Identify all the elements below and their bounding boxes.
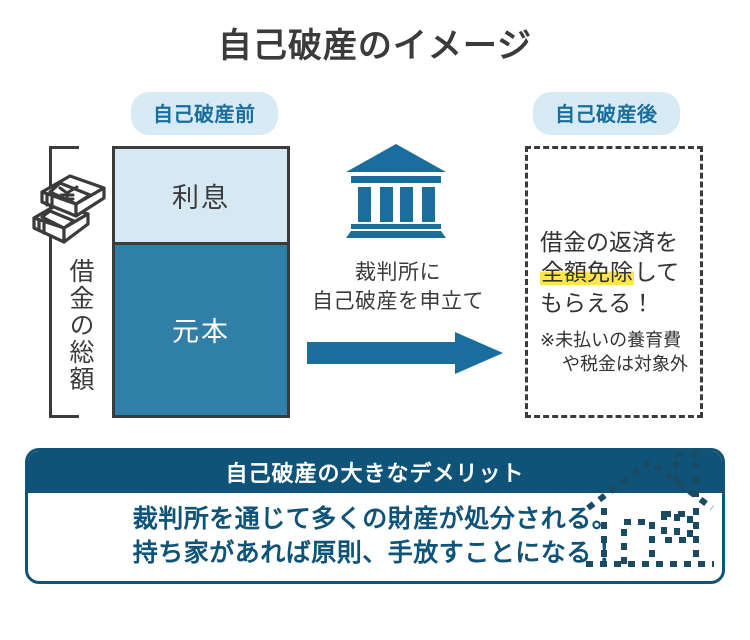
demerit-line-2: 持ち家があれば原則、手放すことになる！ [133,536,618,570]
bar-segment-interest: 利息 [115,149,287,245]
demerit-panel-header: 自己破産の大きなデメリット [28,451,722,493]
result-highlight: 全額免除 [540,259,634,285]
demerit-panel: 自己破産の大きなデメリット 裁判所を通じて多くの財産が処分される。 持ち家があれ… [25,448,725,584]
stage-label-before: 自己破産前 [131,92,278,135]
arrow-right-icon [307,332,503,374]
court-filing-caption-line2: 自己破産を申立て [300,287,496,316]
court-filing-caption: 裁判所に 自己破産を申立て [300,258,496,317]
bankruptcy-result-text: 借金の返済を 全額免除して もらえる！ [540,227,690,318]
court-filing-caption-line1: 裁判所に [300,258,496,287]
bankruptcy-result-content: 借金の返済を 全額免除して もらえる！ ※未払いの養育費や税金は対象外 [540,227,690,376]
demerit-line-1: 裁判所を通じて多くの財産が処分される。 [133,502,618,536]
courthouse-icon [344,142,448,238]
stage-label-after: 自己破産後 [533,92,680,135]
result-line-1: 借金の返済を [540,227,690,257]
result-line-2: 全額免除して [540,257,690,287]
debt-composition-bar: 利息 元本 [112,146,290,418]
cash-stack-icon [30,160,112,246]
page-title: 自己破産のイメージ [0,18,750,67]
bankruptcy-result-note: ※未払いの養育費や税金は対象外 [540,328,690,376]
bankruptcy-result-box: 借金の返済を 全額免除して もらえる！ ※未払いの養育費や税金は対象外 [525,146,703,418]
demerit-panel-text: 裁判所を通じて多くの財産が処分される。 持ち家があれば原則、手放すことになる！ [133,502,618,570]
bar-segment-principal: 元本 [115,245,287,415]
result-line-2-tail: して [634,259,679,285]
result-line-3: もらえる！ [540,288,690,318]
debt-total-label: 借金の総額 [58,258,92,393]
demerit-panel-body: 裁判所を通じて多くの財産が処分される。 持ち家があれば原則、手放すことになる！ [28,493,722,581]
